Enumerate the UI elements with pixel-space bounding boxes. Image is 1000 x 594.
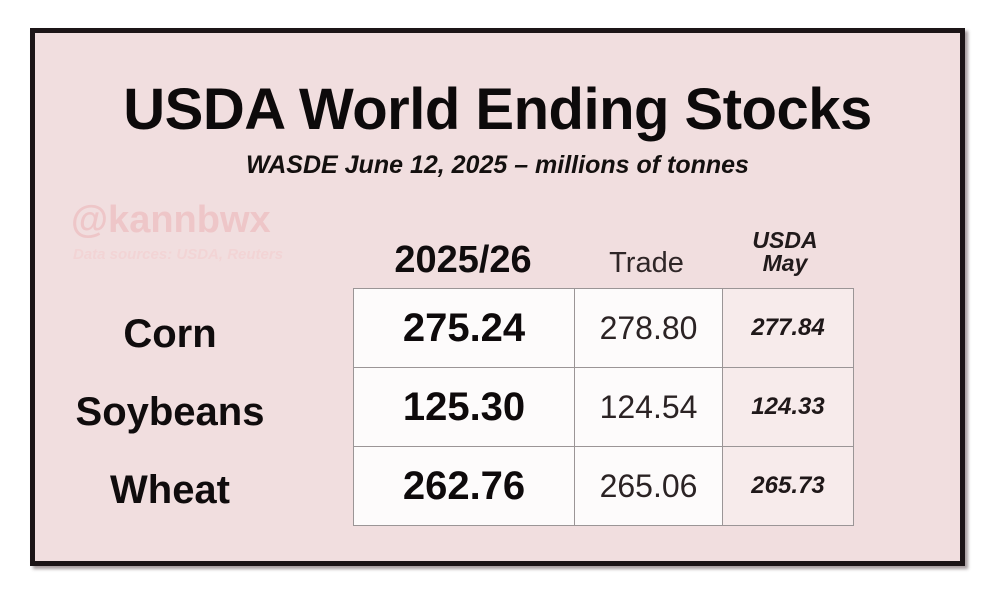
infographic-card: USDA World Ending Stocks WASDE June 12, … bbox=[30, 28, 965, 566]
row-label-wheat: Wheat bbox=[30, 470, 320, 510]
cell-wheat-trade: 265.06 bbox=[575, 447, 723, 526]
cell-soybeans-usda-may: 124.33 bbox=[723, 368, 854, 447]
cell-corn-trade: 278.80 bbox=[575, 289, 723, 368]
data-sources-note: Data sources: USDA, Reuters bbox=[73, 247, 283, 262]
row-label-soybeans: Soybeans bbox=[30, 392, 320, 432]
row-label-corn: Corn bbox=[30, 314, 320, 354]
cell-wheat-2025-26: 262.76 bbox=[354, 447, 575, 526]
column-header-usda-may: USDA May bbox=[720, 229, 850, 276]
table-row: 262.76 265.06 265.73 bbox=[354, 447, 854, 526]
cell-soybeans-trade: 124.54 bbox=[575, 368, 723, 447]
cell-soybeans-2025-26: 125.30 bbox=[354, 368, 575, 447]
column-header-2025-26: 2025/26 bbox=[353, 241, 573, 280]
table-row: 125.30 124.54 124.33 bbox=[354, 368, 854, 447]
cell-corn-2025-26: 275.24 bbox=[354, 289, 575, 368]
column-header-trade-label: Trade bbox=[609, 247, 684, 279]
watermark-handle: @kannbwx bbox=[71, 201, 271, 239]
cell-wheat-usda-may: 265.73 bbox=[723, 447, 854, 526]
page-title: USDA World Ending Stocks bbox=[35, 81, 960, 139]
column-header-trade: Trade bbox=[573, 249, 720, 279]
page-subtitle: WASDE June 12, 2025 – millions of tonnes bbox=[35, 153, 960, 178]
column-header-2025-26-label: 2025/26 bbox=[394, 239, 531, 281]
column-header-usda-line2: May bbox=[720, 252, 850, 275]
stocks-table: 275.24 278.80 277.84 125.30 124.54 124.3… bbox=[353, 288, 854, 526]
cell-corn-usda-may: 277.84 bbox=[723, 289, 854, 368]
table-row: 275.24 278.80 277.84 bbox=[354, 289, 854, 368]
column-header-usda-line1: USDA bbox=[720, 229, 850, 252]
